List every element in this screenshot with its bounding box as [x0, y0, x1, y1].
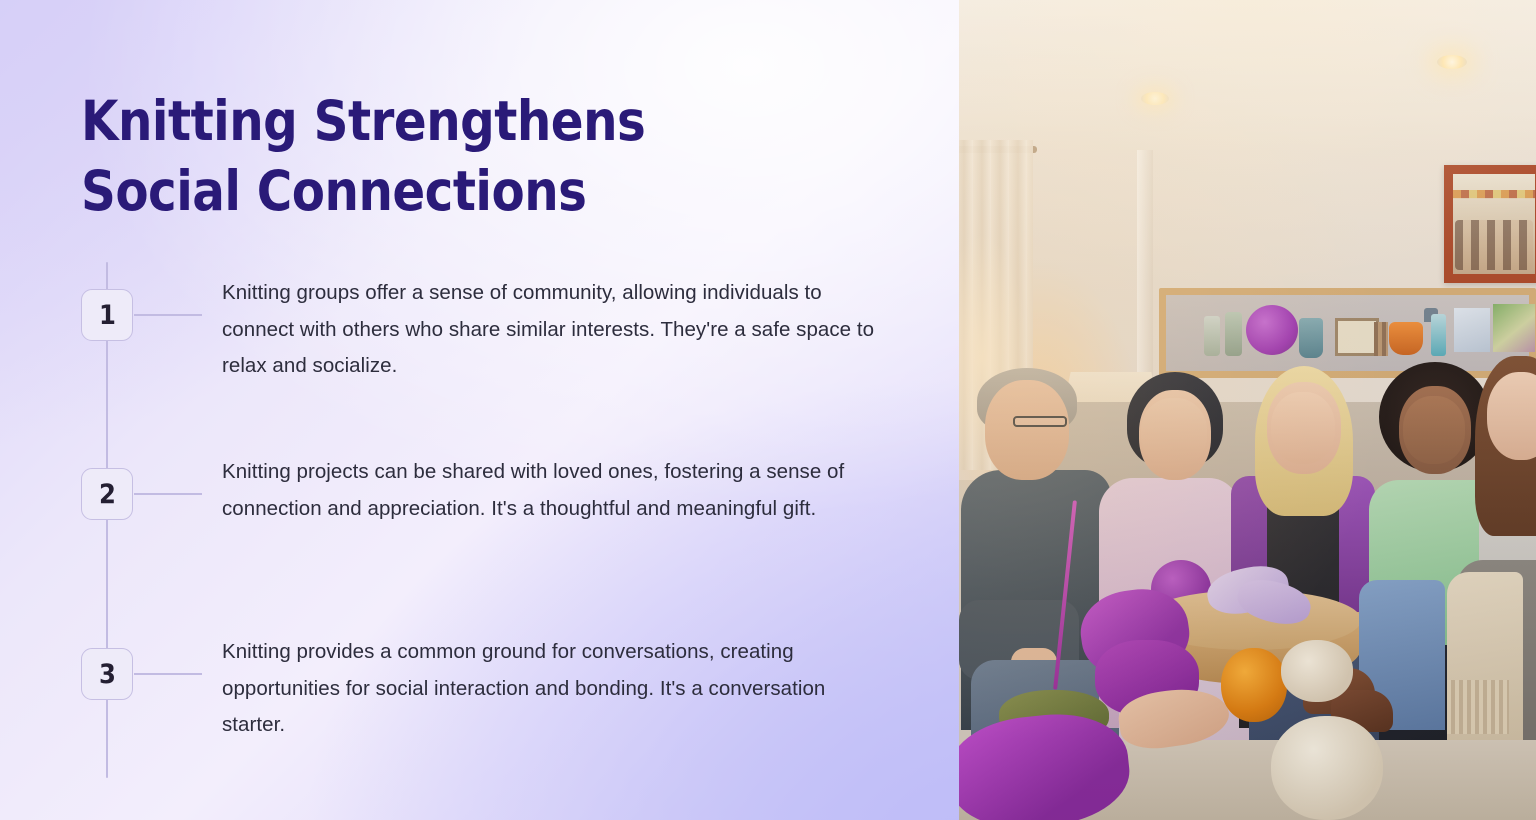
orange-pot — [1389, 322, 1423, 355]
figures-in-picture — [1455, 220, 1533, 270]
shelf-vase — [1299, 318, 1323, 358]
step-number-badge-1: 1 — [81, 289, 133, 341]
step-text-1: Knitting groups offer a sense of communi… — [222, 275, 882, 385]
shelf-books — [1374, 322, 1388, 356]
cream-yarn-ball — [1281, 640, 1353, 702]
teal-bottle — [1431, 314, 1446, 356]
step-number-label: 2 — [99, 481, 116, 508]
knitting-group-photo — [959, 0, 1536, 820]
person-2-face — [1141, 398, 1207, 468]
person-3-face — [1271, 392, 1335, 464]
recessed-light-icon — [1437, 55, 1467, 69]
shelf-jar — [1225, 312, 1242, 356]
step-connector-3 — [134, 673, 202, 675]
person-1-head — [985, 380, 1069, 480]
step-connector-2 — [134, 493, 202, 495]
shelf-card — [1454, 308, 1490, 352]
glasses-icon — [1013, 416, 1067, 427]
steps-list: 1 Knitting groups offer a sense of commu… — [0, 0, 959, 820]
cream-yarn-ball — [1271, 716, 1383, 820]
recessed-light-icon — [1141, 92, 1169, 105]
content-panel: Knitting Strengthens Social Connections … — [0, 0, 959, 820]
shelf-small-frame — [1335, 318, 1379, 356]
person-5-head — [1487, 372, 1536, 460]
step-connector-1 — [134, 314, 202, 316]
step-number-badge-3: 3 — [81, 648, 133, 700]
throw-fringe — [1447, 680, 1509, 734]
orange-yarn-ball — [1221, 648, 1287, 722]
step-number-label: 1 — [99, 302, 116, 329]
step-number-badge-2: 2 — [81, 468, 133, 520]
shelf-card — [1493, 304, 1535, 352]
slide-root: Knitting Strengthens Social Connections … — [0, 0, 1536, 820]
purple-yarn-ball-on-shelf — [1246, 305, 1298, 355]
person-4-face — [1403, 396, 1465, 464]
step-text-3: Knitting provides a common ground for co… — [222, 634, 882, 744]
shelf-jar — [1204, 316, 1220, 356]
step-number-label: 3 — [99, 661, 116, 688]
wall-corner — [1137, 150, 1153, 400]
step-text-2: Knitting projects can be shared with lov… — [222, 454, 882, 527]
